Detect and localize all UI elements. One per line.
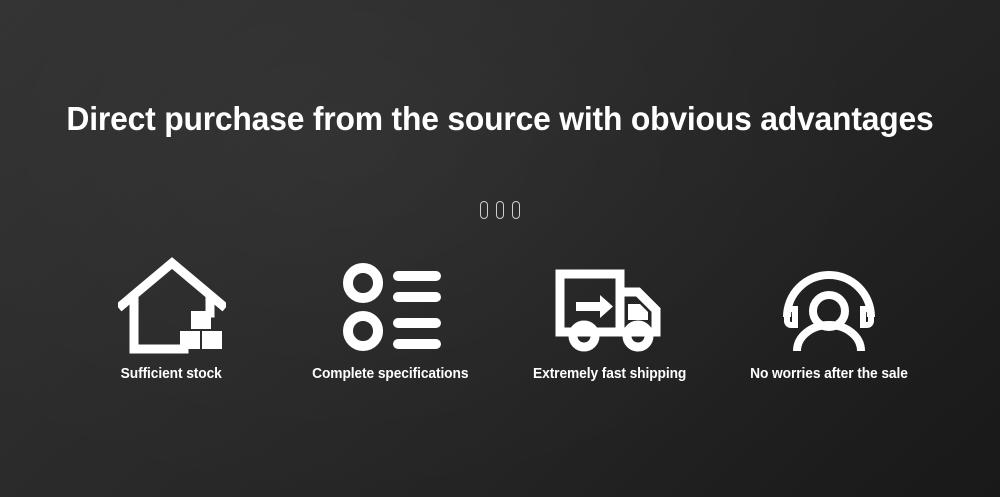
delivery-truck-icon bbox=[554, 252, 666, 362]
pill-mark-icon bbox=[496, 201, 504, 219]
pill-mark-icon bbox=[480, 201, 488, 219]
feature-item-sufficient-stock: Sufficient stock bbox=[62, 252, 281, 382]
feature-label: Sufficient stock bbox=[121, 366, 222, 382]
feature-item-after-sale-support: No worries after the sale bbox=[719, 252, 938, 382]
promo-banner: Direct purchase from the source with obv… bbox=[0, 0, 1000, 497]
feature-item-fast-shipping: Extremely fast shipping bbox=[500, 252, 719, 382]
feature-list: Sufficient stock Complete specifications bbox=[62, 252, 938, 382]
feature-label: Complete specifications bbox=[312, 366, 468, 382]
pill-mark-icon bbox=[512, 201, 520, 219]
specification-list-icon bbox=[339, 252, 443, 362]
feature-item-complete-specifications: Complete specifications bbox=[281, 252, 500, 382]
page-title: Direct purchase from the source with obv… bbox=[18, 99, 983, 139]
feature-label: Extremely fast shipping bbox=[533, 366, 686, 382]
triple-pill-divider bbox=[0, 201, 1000, 219]
customer-support-headset-icon bbox=[779, 252, 879, 362]
warehouse-stock-icon bbox=[118, 252, 226, 362]
feature-label: No worries after the sale bbox=[750, 366, 908, 382]
